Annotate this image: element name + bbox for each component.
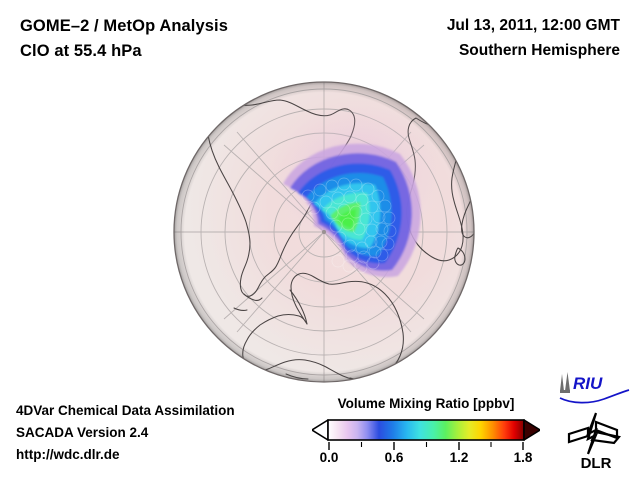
colorbar-gradient [312, 418, 540, 442]
colorbar-title: Volume Mixing Ratio [ppbv] [312, 396, 540, 411]
colorbar-tick-label-0: 0.0 [320, 450, 339, 465]
page-title-line2: ClO at 55.4 hPa [20, 42, 142, 61]
footer-line-method: 4DVar Chemical Data Assimilation [16, 400, 235, 422]
footer-text-block: 4DVar Chemical Data Assimilation SACADA … [16, 400, 235, 466]
colorbar-tick-labels: 0.0 0.6 1.2 1.8 [312, 450, 540, 470]
riu-wordmark: RIU [573, 374, 603, 393]
footer-line-version: SACADA Version 2.4 [16, 422, 235, 444]
page-title-line1: GOME–2 / MetOp Analysis [20, 17, 228, 36]
orthographic-projection-svg [168, 76, 480, 388]
riu-towers-icon [560, 372, 570, 393]
colorbar-cap-left [312, 420, 328, 440]
colorbar-tick-label-2: 1.2 [450, 450, 469, 465]
colorbar: Volume Mixing Ratio [ppbv] [312, 396, 540, 474]
colorbar-body [328, 420, 524, 440]
footer-line-url[interactable]: http://wdc.dlr.de [16, 444, 235, 466]
dlr-mark-icon [569, 413, 619, 454]
globe-map [168, 76, 480, 388]
hemisphere-label: Southern Hemisphere [459, 42, 620, 60]
globe-limb-shading [174, 82, 474, 382]
figure-canvas: GOME–2 / MetOp Analysis ClO at 55.4 hPa … [0, 0, 640, 480]
colorbar-tick-label-3: 1.8 [514, 450, 533, 465]
timestamp-label: Jul 13, 2011, 12:00 GMT [447, 17, 620, 35]
dlr-logo: DLR [562, 410, 630, 472]
colorbar-tick-label-1: 0.6 [385, 450, 404, 465]
dlr-wordmark: DLR [581, 455, 612, 472]
riu-logo: RIU [556, 371, 632, 405]
colorbar-cap-right [524, 420, 540, 440]
